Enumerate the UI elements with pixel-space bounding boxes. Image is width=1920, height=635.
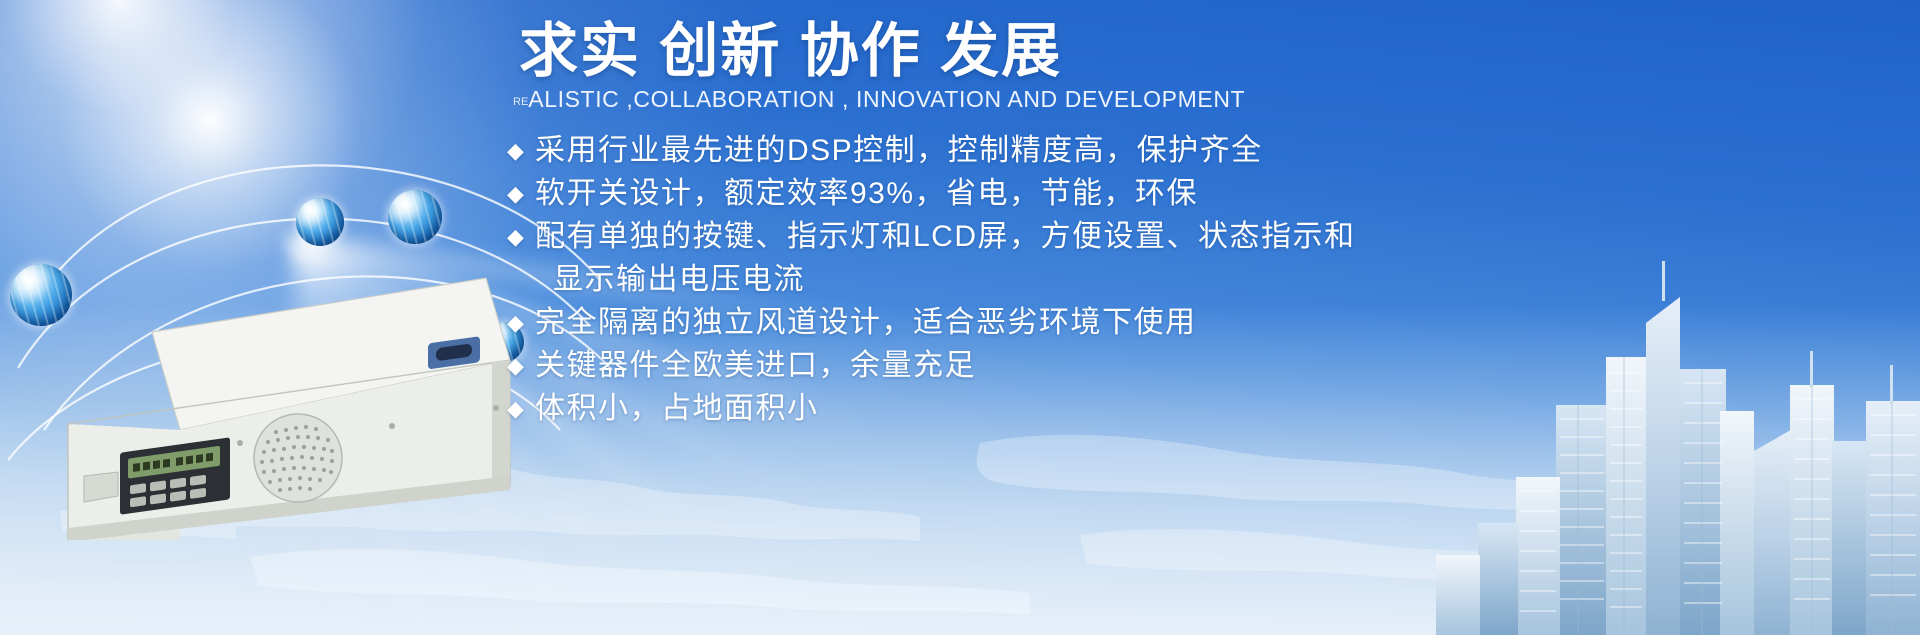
promotional-banner: 求实 创新 协作 发展 REALISTIC ,COLLABORATION , I… <box>0 0 1920 635</box>
subtitle-english: REALISTIC ,COLLABORATION , INNOVATION AN… <box>513 86 1505 113</box>
diamond-bullet-icon: ◆ <box>507 301 525 344</box>
list-item-label: 采用行业最先进的DSP控制，控制精度高，保护齐全 <box>535 134 1263 167</box>
diamond-bullet-icon: ◆ <box>507 129 525 172</box>
list-item-continuation: 显示输出电压电流 <box>505 258 1505 301</box>
diamond-bullet-icon: ◆ <box>507 215 525 258</box>
rack-mount-power-supply <box>40 240 560 540</box>
list-item-label: 完全隔离的独立风道设计，适合恶劣环境下使用 <box>535 306 1197 339</box>
list-item: ◆完全隔离的独立风道设计，适合恶劣环境下使用 <box>505 301 1505 344</box>
list-item: ◆配有单独的按键、指示灯和LCD屏，方便设置、状态指示和 <box>505 215 1505 258</box>
globe-icon-2 <box>296 198 344 246</box>
feature-list: ◆采用行业最先进的DSP控制，控制精度高，保护齐全 ◆软开关设计，额定效率93%… <box>505 129 1505 430</box>
list-item-label: 软开关设计，额定效率93%，省电，节能，环保 <box>535 177 1198 210</box>
list-item: ◆软开关设计，额定效率93%，省电，节能，环保 <box>505 172 1505 215</box>
list-item-label: 关键器件全欧美进口，余量充足 <box>535 349 976 382</box>
fan-grill <box>254 414 342 502</box>
list-item: ◆关键器件全欧美进口，余量充足 <box>505 344 1505 387</box>
subtitle-prefix: RE <box>513 96 528 108</box>
list-item-label: 体积小，占地面积小 <box>535 392 819 425</box>
diamond-bullet-icon: ◆ <box>507 344 525 387</box>
diamond-bullet-icon: ◆ <box>507 172 525 215</box>
text-content: 求实 创新 协作 发展 REALISTIC ,COLLABORATION , I… <box>505 18 1505 430</box>
subtitle-main: ALISTIC ,COLLABORATION , INNOVATION AND … <box>528 86 1245 112</box>
list-item-label: 显示输出电压电流 <box>553 263 805 296</box>
diamond-bullet-icon: ◆ <box>507 387 525 430</box>
globe-icon-3 <box>388 190 442 244</box>
list-item-label: 配有单独的按键、指示灯和LCD屏，方便设置、状态指示和 <box>535 220 1356 253</box>
page-title: 求实 创新 协作 发展 <box>519 18 1505 84</box>
list-item: ◆体积小，占地面积小 <box>505 387 1505 430</box>
list-item: ◆采用行业最先进的DSP控制，控制精度高，保护齐全 <box>505 129 1505 172</box>
